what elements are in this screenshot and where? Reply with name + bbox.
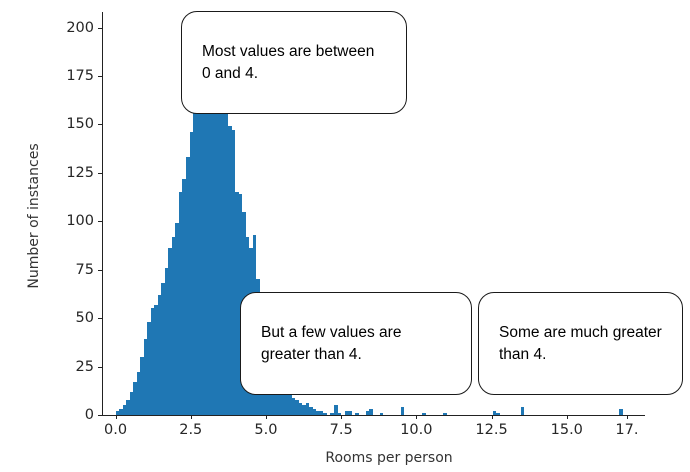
- x-tick: [567, 415, 568, 419]
- histogram-bar: [380, 413, 384, 415]
- x-tick-label: 15.0: [551, 422, 583, 438]
- histogram-bar: [443, 413, 447, 415]
- annotation-text: Most values are between 0 and 4.: [182, 41, 406, 85]
- x-tick-label: 5.0: [254, 422, 277, 438]
- histogram-bar: [619, 409, 623, 415]
- annotation-text: But a few values are greater than 4.: [241, 322, 471, 366]
- x-axis-label: Rooms per person: [0, 450, 690, 466]
- x-tick: [191, 415, 192, 419]
- y-tick-label: 50: [76, 310, 94, 326]
- y-tick-label: 75: [76, 262, 94, 278]
- y-tick-label: 125: [66, 165, 94, 181]
- annotation-text: Some are much greater than 4.: [479, 322, 682, 366]
- annotation-callout-few-values: But a few values are greater than 4.: [240, 292, 472, 395]
- histogram-bar: [369, 409, 373, 415]
- y-tick: [98, 367, 102, 368]
- y-tick: [98, 221, 102, 222]
- x-axis-line: [102, 415, 645, 416]
- histogram-bar: [521, 407, 525, 415]
- x-tick: [341, 415, 342, 419]
- y-tick: [98, 270, 102, 271]
- x-tick-label: 2.5: [179, 422, 202, 438]
- y-tick-label: 200: [66, 20, 94, 36]
- x-tick-label: 0.0: [104, 422, 127, 438]
- y-tick: [98, 318, 102, 319]
- y-tick-label: 0: [85, 407, 94, 423]
- histogram-bar: [401, 407, 405, 415]
- histogram-bar: [348, 411, 352, 415]
- x-tick-label: 17.: [615, 422, 638, 438]
- histogram-bar: [355, 413, 359, 415]
- histogram-bar: [323, 413, 327, 415]
- y-tick: [98, 124, 102, 125]
- annotation-callout-some-much-greater: Some are much greater than 4.: [478, 292, 683, 395]
- y-tick-label: 100: [66, 213, 94, 229]
- x-tick: [416, 415, 417, 419]
- x-tick-label: 10.0: [400, 422, 432, 438]
- histogram-figure: 0.02.55.07.510.012.515.017. 025507510012…: [0, 0, 690, 472]
- y-tick: [98, 415, 102, 416]
- x-tick: [116, 415, 117, 419]
- histogram-bar: [422, 413, 426, 415]
- x-tick-label: 7.5: [330, 422, 353, 438]
- y-tick: [98, 76, 102, 77]
- x-tick-label: 12.5: [475, 422, 507, 438]
- x-axis-label-text: Rooms per person: [325, 450, 452, 466]
- y-tick-label: 25: [76, 359, 94, 375]
- y-tick: [98, 28, 102, 29]
- x-tick: [492, 415, 493, 419]
- annotation-callout-most-values: Most values are between 0 and 4.: [181, 11, 407, 114]
- y-tick: [98, 173, 102, 174]
- y-tick-label: 175: [66, 68, 94, 84]
- y-tick-label: 150: [66, 116, 94, 132]
- histogram-bar: [496, 413, 500, 415]
- x-tick: [627, 415, 628, 419]
- x-tick: [266, 415, 267, 419]
- y-axis-label: Number of instances: [26, 86, 42, 346]
